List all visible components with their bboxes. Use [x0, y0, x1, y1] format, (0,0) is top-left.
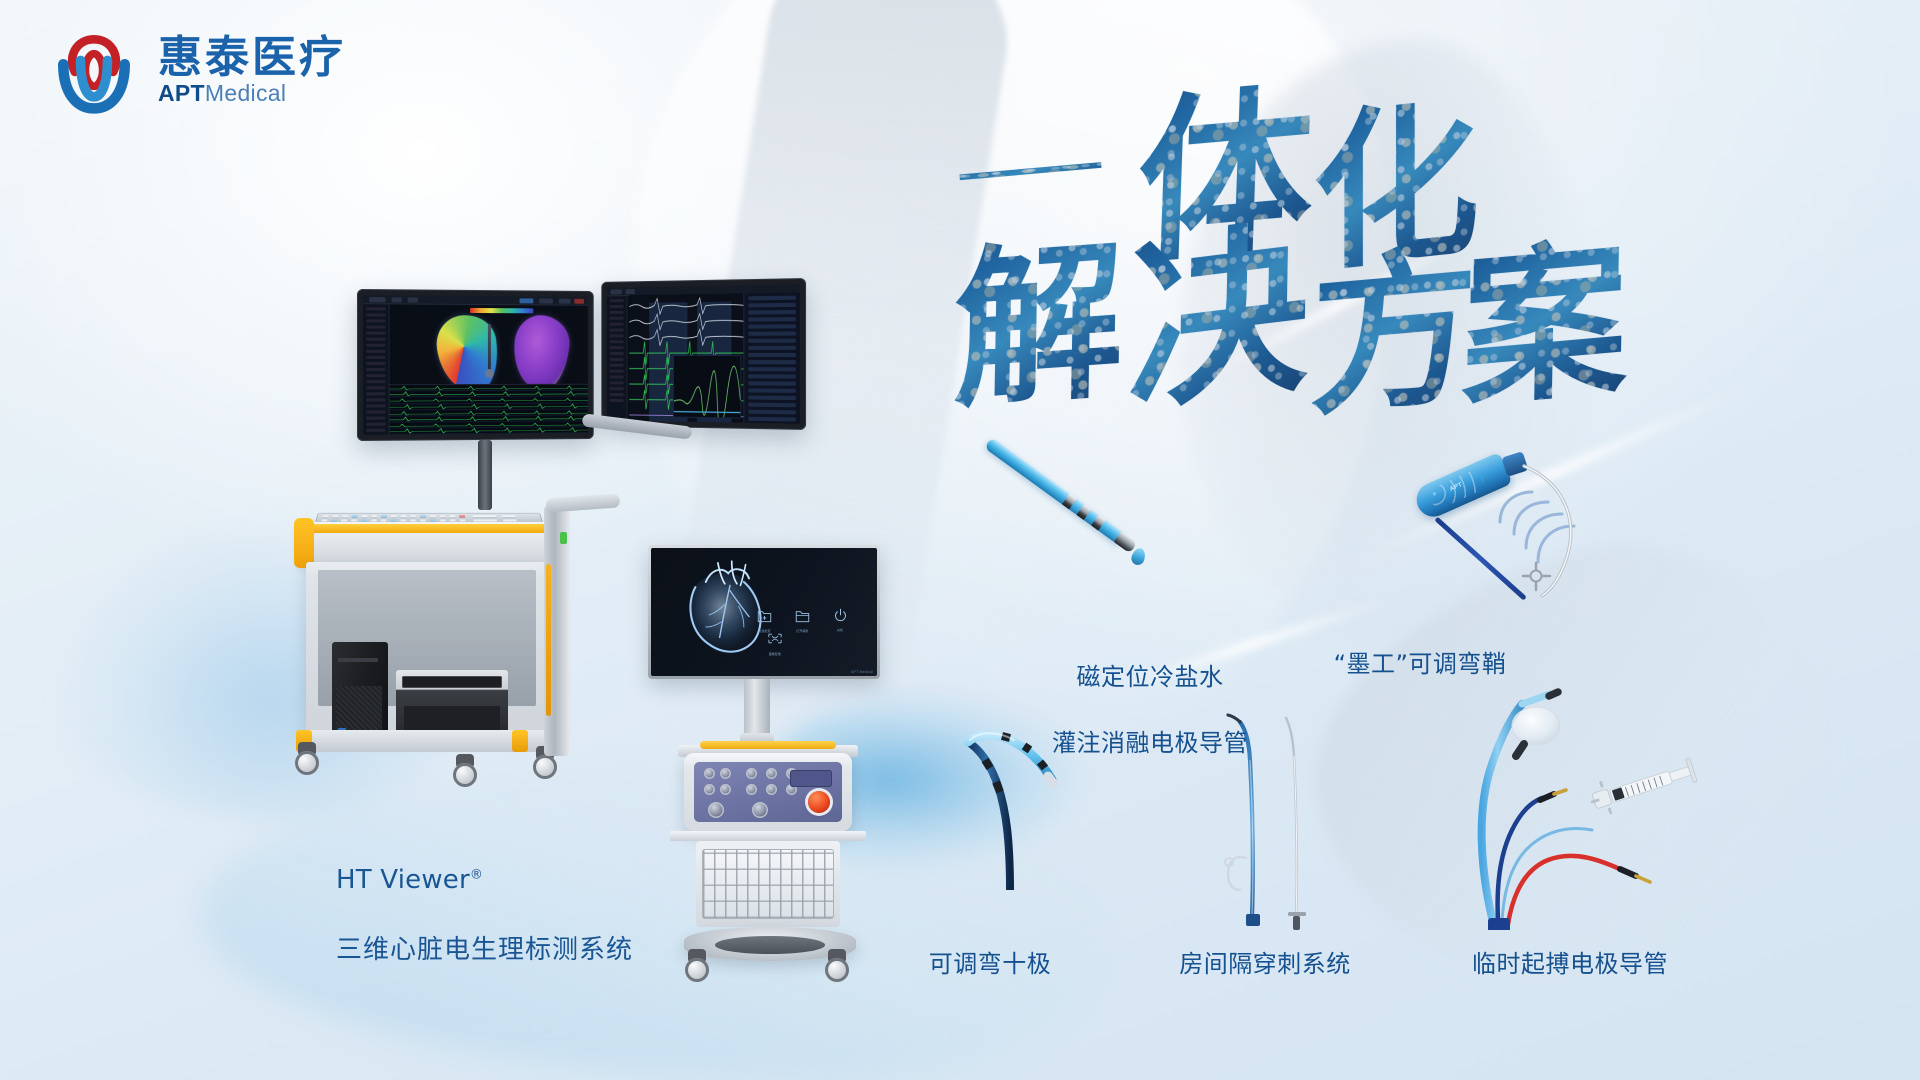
hemostasis-valve: [1516, 560, 1556, 594]
poster-canvas: 惠泰医疗 APTMedical 一 体 化 解 决 方 案: [0, 0, 1920, 1080]
headline-glyph-7: 案: [1460, 182, 1630, 439]
connector-port[interactable]: [746, 768, 757, 779]
connector-port[interactable]: [746, 784, 757, 795]
mapping-sidebar: [363, 304, 389, 435]
lat-color-scale: [470, 308, 533, 313]
connector-port[interactable]: [766, 768, 777, 779]
power-label: 关机: [837, 628, 843, 632]
cart-handle[interactable]: [546, 493, 621, 512]
display-column: [744, 679, 770, 741]
cart-right-column: [544, 506, 570, 756]
caption-ablation-line1: 磁定位冷盐水: [1020, 661, 1280, 694]
laser-printer: [396, 670, 508, 738]
connector-port[interactable]: [720, 768, 731, 779]
rf-cart-basket: [702, 849, 834, 919]
headline-glyph-6: 方: [1308, 190, 1480, 449]
brand-name-cn: 惠泰医疗: [158, 36, 346, 80]
cart-base: [296, 730, 566, 752]
caption-pacing-catheter: 临时起搏电极导管: [1440, 948, 1700, 981]
brand-wordmark: 惠泰医疗 APTMedical: [158, 36, 346, 105]
catheter-shaft: [984, 437, 1128, 546]
power-indicator-led: [560, 532, 567, 544]
recording-measurement-table: [743, 292, 800, 423]
brand-logo: 惠泰医疗 APTMedical: [46, 22, 346, 118]
recording-channel-list: [607, 296, 628, 421]
patient-interface-unit: [684, 753, 852, 831]
caption-ht-viewer-en: HT Viewer®: [336, 863, 633, 899]
connector-port[interactable]: [766, 784, 777, 795]
electrode-band: [1062, 494, 1077, 510]
headline-glyph-4: 解: [952, 182, 1126, 441]
console-menu-icons: 新建检查 打开病例 关机 图像配准: [755, 594, 854, 658]
caption-ablation-catheter: 磁定位冷盐水 灌注消融电极导管: [1020, 628, 1280, 794]
caption-ablation-line2: 灌注消融电极导管: [1020, 727, 1280, 760]
ground-port[interactable]: [708, 802, 724, 818]
heart-display-screen: 新建检查 打开病例 关机 图像配准 APT Medical: [651, 548, 877, 676]
caption-steerable-sheath: “墨工”可调弯鞘: [1300, 648, 1540, 681]
rf-connector-panel: [694, 762, 842, 822]
new-study-icon[interactable]: 新建检查: [757, 609, 772, 628]
keyboard-tray[interactable]: [300, 522, 562, 566]
mapping-screen: [363, 295, 588, 435]
brand-name-en-light: Medical: [205, 80, 286, 106]
connector-port[interactable]: [720, 784, 731, 795]
recording-screen: [607, 284, 800, 423]
apt-medical-logo-icon: [46, 22, 142, 118]
emergency-stop-button[interactable]: [808, 791, 830, 813]
caption-transseptal: 房间隔穿刺系统: [1150, 948, 1380, 981]
monitor-arm-post: [478, 440, 492, 510]
irrigated-ablation-catheter: [980, 430, 1180, 590]
pacing-catheter-illustration: [1450, 670, 1740, 930]
monitor-bezel: [357, 289, 594, 441]
catheter-port[interactable]: [752, 802, 768, 818]
mapping-ecg-traces: [390, 384, 588, 435]
caption-ht-viewer-cn: 三维心脏电生理标测系统: [336, 933, 633, 969]
caster-wheel: [824, 949, 850, 983]
electrode-band: [1076, 504, 1091, 520]
brand-name-en-bold: APT: [158, 80, 205, 106]
open-folder-label: 打开病例: [796, 629, 808, 633]
registration-icon[interactable]: 图像配准: [767, 632, 783, 650]
caster-wheel: [684, 949, 710, 983]
status-display: [790, 770, 832, 787]
connector-port[interactable]: [704, 784, 715, 795]
pc-tower: [332, 642, 388, 738]
caption-ht-viewer: HT Viewer® 三维心脏电生理标测系统: [336, 828, 633, 1003]
temporary-pacing-electrode-catheter: [1450, 670, 1740, 930]
rf-cart-tray: [670, 831, 866, 841]
headline-glyph-5: 决: [1126, 160, 1311, 448]
steerable-introducer-sheath: APT: [1400, 430, 1670, 620]
power-icon[interactable]: 关机: [833, 608, 848, 628]
heart-display-console: 新建检查 打开病例 关机 图像配准 APT Medical: [648, 545, 948, 1045]
brand-name-en: APTMedical: [158, 82, 346, 105]
electrode-band: [1091, 515, 1106, 531]
registration-label: 图像配准: [769, 652, 781, 656]
tray-bumper-left: [294, 518, 314, 568]
ep-recording-monitor: [601, 278, 806, 430]
mapping-3d-view: [390, 304, 588, 390]
heart-display-monitor: 新建检查 打开病例 关机 图像配准 APT Medical: [648, 545, 880, 679]
monitor-bezel: [601, 278, 806, 430]
console-watermark: APT Medical: [851, 670, 873, 674]
headline-calligraphy: 一 体 化 解 决 方 案: [960, 40, 1620, 350]
catheter-render: [488, 324, 491, 372]
3d-mapping-monitor: [357, 289, 594, 441]
voltage-map-mesh: [510, 313, 572, 394]
caster-wheel: [294, 742, 320, 776]
caption-decapolar: 可调弯十极: [910, 948, 1070, 981]
recording-inset-panel: [673, 355, 741, 418]
connector-port[interactable]: [704, 768, 715, 779]
open-folder-icon[interactable]: 打开病例: [795, 609, 810, 628]
caster-wheel: [452, 754, 478, 788]
